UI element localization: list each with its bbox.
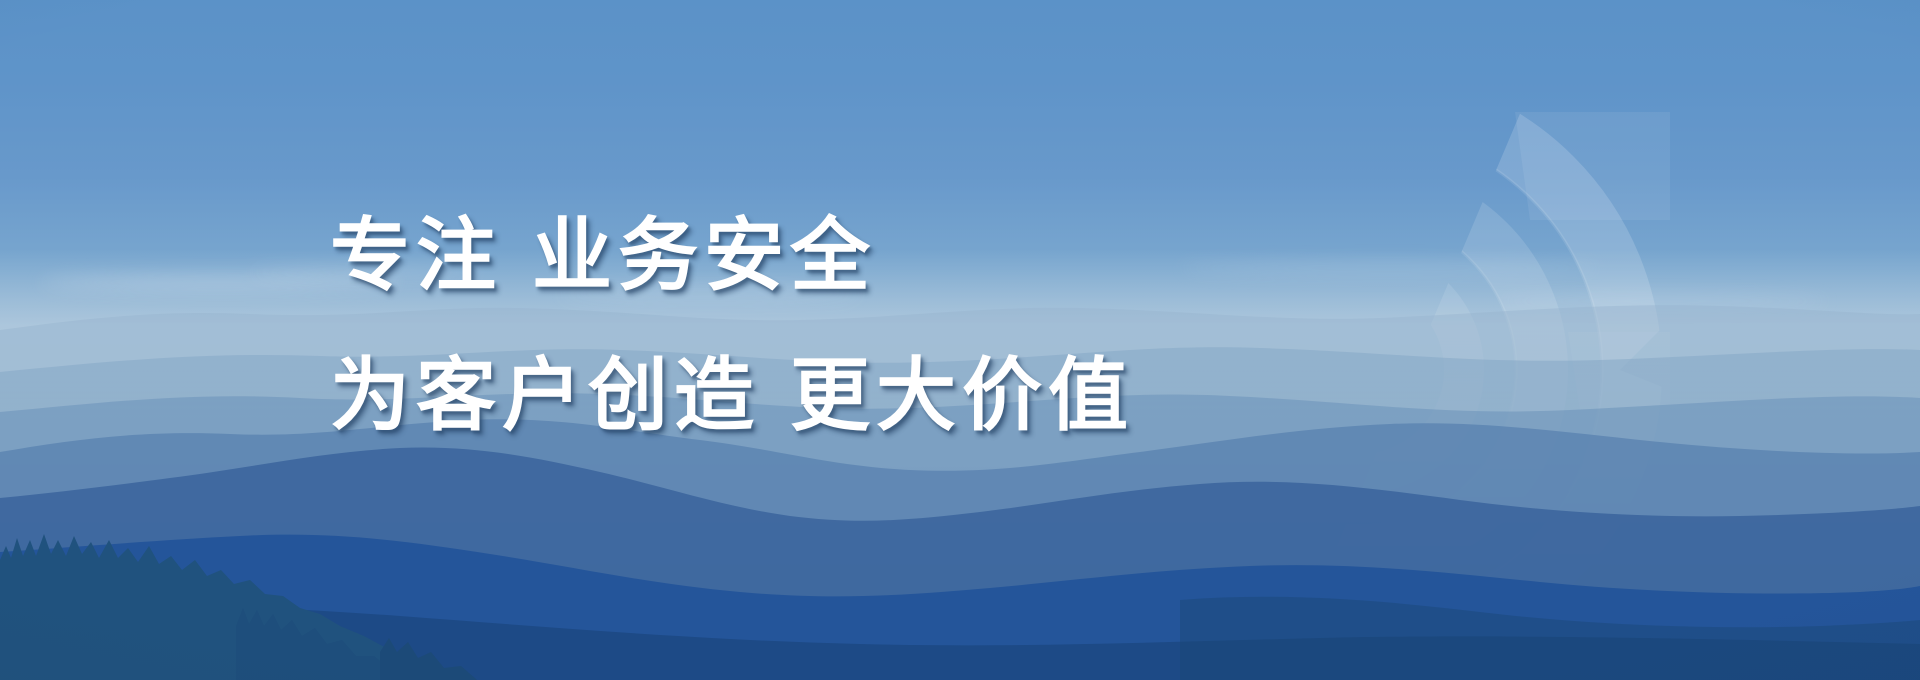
headline-line-2: 为客户创造更大价值 bbox=[330, 326, 1134, 466]
headline-line-2-part-1: 为客户创造 bbox=[330, 351, 760, 440]
cloud-wisp bbox=[1180, 262, 1600, 274]
headline-line-1-part-1: 专注 bbox=[330, 211, 502, 300]
ridge-layer-dark bbox=[0, 535, 1920, 680]
headline-line-2-part-2: 更大价值 bbox=[790, 351, 1134, 440]
cloud-wisp bbox=[1500, 296, 1830, 306]
hero-banner: 专注业务安全 为客户创造更大价值 bbox=[0, 0, 1920, 680]
ridge-layer-near bbox=[0, 448, 1920, 680]
leaf-circle-logo-watermark bbox=[1060, 70, 1680, 630]
headline-group: 专注业务安全 为客户创造更大价值 bbox=[330, 186, 1134, 466]
pine-forest-silhouette bbox=[0, 534, 520, 680]
foreground-block bbox=[0, 603, 1920, 680]
headline-line-1-part-2: 业务安全 bbox=[532, 211, 876, 300]
forest-texture bbox=[1180, 597, 1920, 680]
headline-line-1: 专注业务安全 bbox=[330, 186, 1134, 326]
